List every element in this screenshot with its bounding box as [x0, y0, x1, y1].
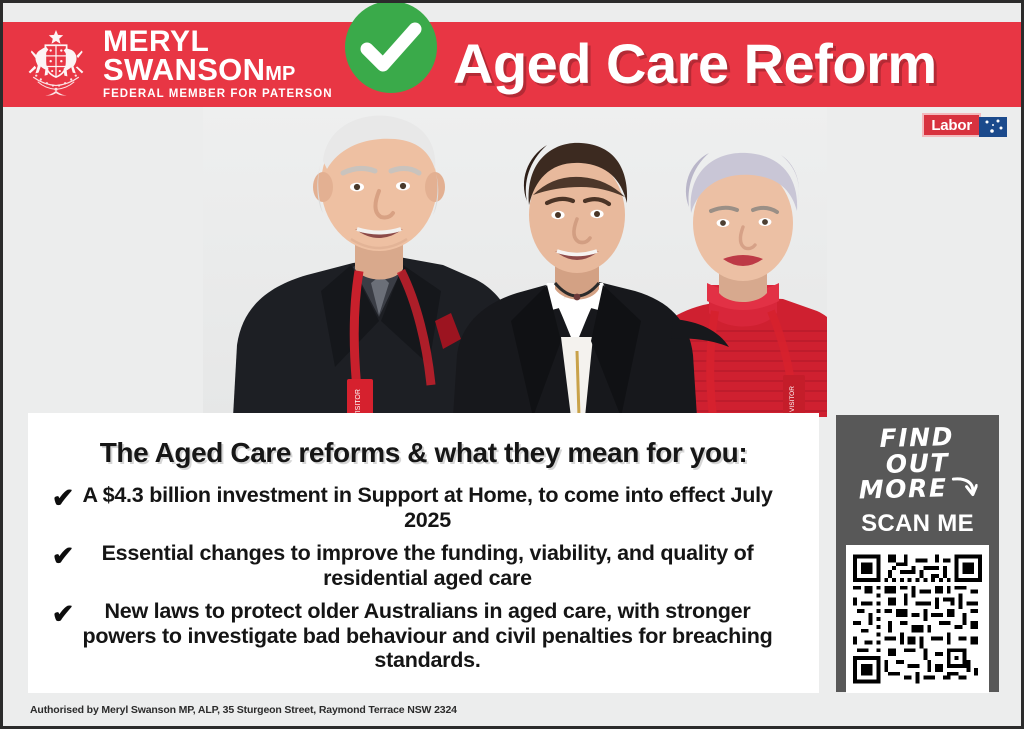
group-photo: VISITOR	[203, 107, 827, 417]
authorisation-text: Authorised by Meryl Swanson MP, ALP, 35 …	[30, 704, 457, 716]
mp-last-name: SWANSONMP	[103, 56, 333, 85]
find-out-more-line2: MORE	[858, 473, 948, 504]
reforms-content-card: The Aged Care reforms & what they mean f…	[28, 413, 819, 693]
mp-name-block: MERYL SWANSONMP FEDERAL MEMBER FOR PATER…	[103, 28, 333, 99]
green-check-circle-icon	[345, 1, 437, 93]
check-icon: ✔	[46, 599, 80, 628]
card-heading: The Aged Care reforms & what they mean f…	[46, 437, 801, 469]
list-item: ✔ New laws to protect older Australians …	[46, 599, 801, 673]
mp-subtitle: FEDERAL MEMBER FOR PATERSON	[103, 89, 333, 100]
flyer-page: VISITOR	[0, 0, 1024, 729]
page-title: Aged Care Reform	[453, 31, 937, 96]
southern-cross-stars-icon	[979, 117, 1007, 137]
header-banner: MERYL SWANSONMP FEDERAL MEMBER FOR PATER…	[3, 22, 1024, 107]
check-icon: ✔	[46, 541, 80, 570]
australian-coat-of-arms-icon	[17, 27, 95, 103]
list-item: ✔ Essential changes to improve the fundi…	[46, 541, 801, 590]
svg-text:VISITOR: VISITOR	[789, 386, 796, 412]
bullet-text: Essential changes to improve the funding…	[80, 541, 801, 590]
curved-arrow-down-icon	[951, 475, 978, 502]
qr-code-icon[interactable]	[846, 545, 989, 693]
check-icon: ✔	[46, 483, 80, 512]
qr-call-to-action-panel[interactable]: FIND OUT MORE SCAN ME	[836, 415, 999, 692]
bullet-text: New laws to protect older Australians in…	[80, 599, 801, 673]
labor-party-logo: Labor	[922, 113, 1007, 137]
find-out-more-line1: FIND OUT	[879, 422, 954, 478]
bullet-text: A $4.3 billion investment in Support at …	[80, 483, 801, 532]
list-item: ✔ A $4.3 billion investment in Support a…	[46, 483, 801, 532]
bullet-list: ✔ A $4.3 billion investment in Support a…	[46, 483, 801, 673]
scan-me-label: SCAN ME	[846, 510, 989, 538]
labor-logo-label: Labor	[922, 113, 981, 137]
mp-suffix: MP	[265, 63, 295, 85]
mp-last-name-text: SWANSON	[103, 52, 265, 87]
find-out-more-label: FIND OUT MORE	[845, 423, 990, 505]
photo-illustration: VISITOR	[203, 107, 827, 417]
